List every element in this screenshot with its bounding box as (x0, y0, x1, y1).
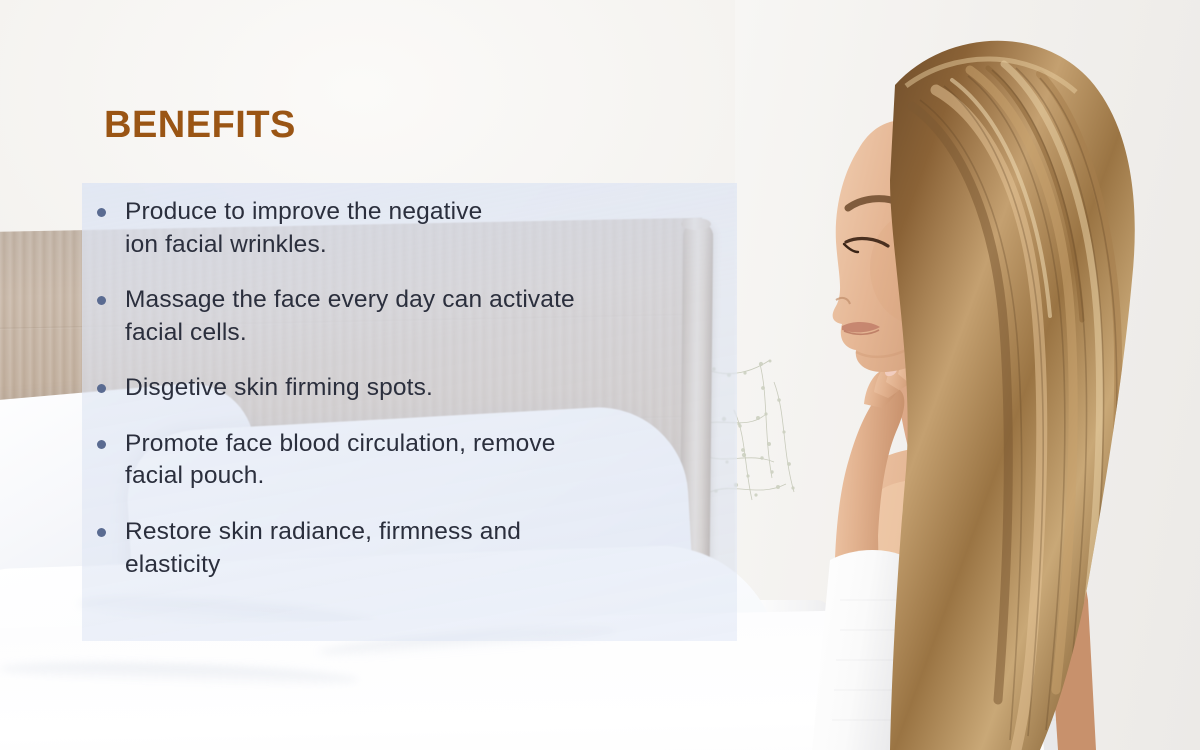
list-item-label: Massage the face every day can activate … (125, 284, 575, 349)
model-portrait (740, 0, 1200, 750)
list-item: Massage the face every day can activate … (97, 284, 777, 349)
page-title: BENEFITS (104, 106, 296, 144)
bullet-dot-icon (97, 208, 106, 217)
nightstand (742, 600, 832, 750)
list-item: Restore skin radiance, firmness and elas… (97, 516, 777, 581)
slide-canvas: BENEFITS Produce to improve the negative… (0, 0, 1200, 750)
benefits-list: Produce to improve the negative ion faci… (97, 196, 777, 581)
bullet-dot-icon (97, 296, 106, 305)
list-item: Disgetive skin firming spots. (97, 372, 777, 405)
list-item-label: Disgetive skin firming spots. (125, 372, 433, 405)
bullet-dot-icon (97, 528, 106, 537)
list-item: Promote face blood circulation, remove f… (97, 428, 777, 493)
wall-right-background (735, 0, 1200, 750)
list-item-label: Restore skin radiance, firmness and elas… (125, 516, 521, 581)
list-item-label: Produce to improve the negative ion faci… (125, 196, 482, 261)
bullet-dot-icon (97, 440, 106, 449)
list-item: Produce to improve the negative ion faci… (97, 196, 777, 261)
list-item-label: Promote face blood circulation, remove f… (125, 428, 556, 493)
bullet-dot-icon (97, 384, 106, 393)
